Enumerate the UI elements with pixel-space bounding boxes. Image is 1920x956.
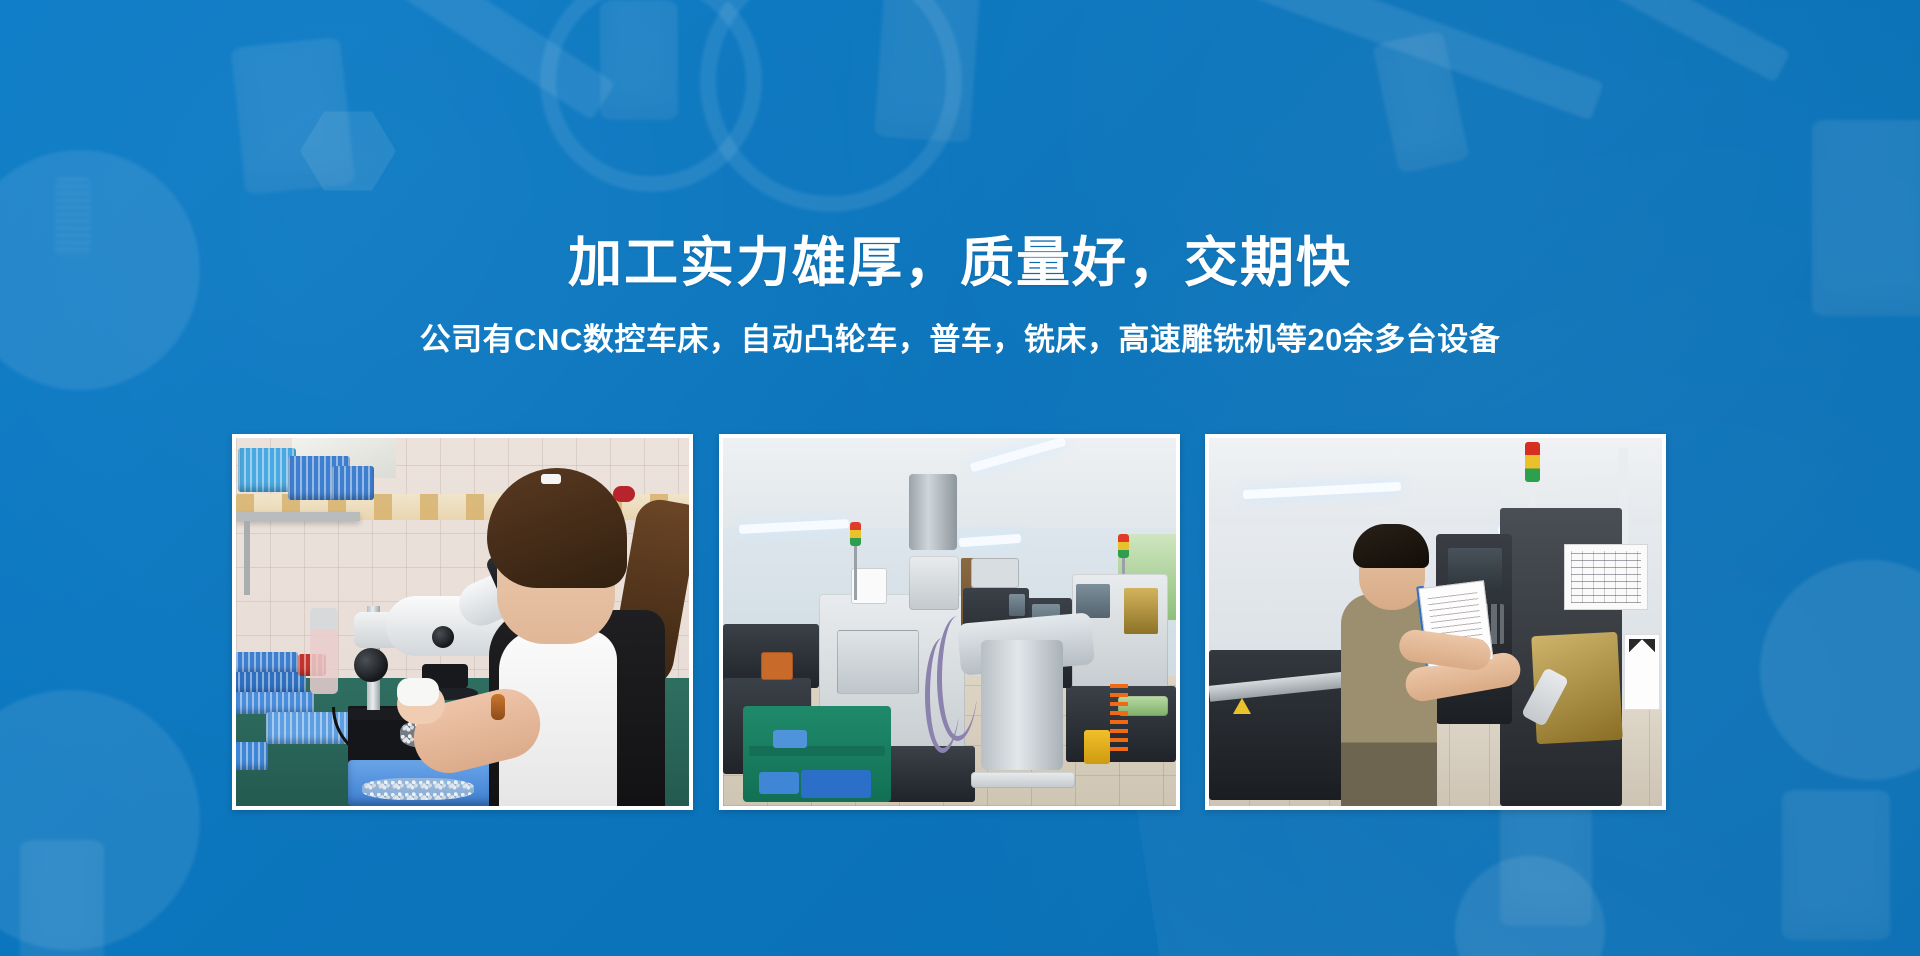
photo-caption: 质检员使用体视显微镜检测小五金零件 bbox=[236, 806, 237, 807]
photo-quality-inspection: 质检员使用体视显微镜检测小五金零件 bbox=[232, 434, 693, 810]
photo-caption: 操作员对照图纸调试数控车床控制面板 bbox=[1209, 806, 1210, 807]
storage-basket bbox=[236, 742, 268, 770]
water-bottle bbox=[310, 608, 338, 694]
ghost-ring-part bbox=[700, 0, 962, 212]
ghost-disc-part bbox=[1760, 560, 1920, 780]
ghost-disc-part bbox=[0, 690, 200, 950]
banner-copy: 加工实力雄厚，质量好，交期快 公司有CNC数控车床，自动凸轮车，普车，铣床，高速… bbox=[0, 232, 1920, 360]
ghost-cylinder-part bbox=[874, 0, 982, 143]
photo-quality-inspection-image bbox=[236, 438, 689, 806]
ghost-cylinder-part bbox=[600, 0, 678, 120]
wall-shelf bbox=[236, 512, 360, 521]
operator-glove bbox=[397, 678, 439, 706]
ghost-rod-part bbox=[1510, 0, 1791, 82]
storage-basket bbox=[236, 652, 298, 674]
cnc-control-screen bbox=[1124, 588, 1158, 634]
ghost-rod-part bbox=[315, 0, 616, 120]
conveyor-foot bbox=[971, 772, 1075, 788]
photo-gallery: 质检员使用体视显微镜检测小五金零件 bbox=[232, 434, 1666, 810]
ghost-cylinder-part bbox=[1782, 790, 1890, 940]
process-chart-board bbox=[1564, 544, 1648, 610]
ghost-cylinder-part bbox=[1372, 30, 1470, 174]
metal-parts-pile bbox=[362, 778, 474, 800]
ghost-cylinder-part bbox=[1500, 790, 1592, 926]
machine-access-panel bbox=[837, 630, 919, 694]
microscope-zoom-knob bbox=[432, 626, 454, 648]
page-title: 加工实力雄厚，质量好，交期快 bbox=[0, 232, 1920, 294]
coiled-air-hose bbox=[1110, 684, 1128, 756]
operator-hair bbox=[1353, 524, 1429, 568]
photo-cnc-workshop-image bbox=[723, 438, 1176, 806]
parts-bin bbox=[759, 772, 799, 794]
hair-clip bbox=[541, 474, 561, 484]
photo-cnc-workshop: CNC数控车床车间设备全景 bbox=[719, 434, 1180, 810]
ghost-ring-part bbox=[540, 0, 762, 192]
storage-basket bbox=[236, 672, 306, 694]
machine-chip-duct bbox=[909, 474, 957, 550]
storage-basket bbox=[332, 466, 374, 500]
photo-machine-operator-image bbox=[1209, 438, 1662, 806]
wall-cabinet bbox=[971, 558, 1019, 588]
photo-caption: CNC数控车床车间设备全景 bbox=[723, 806, 724, 807]
photo-machine-operator: 操作员对照图纸调试数控车床控制面板 bbox=[1205, 434, 1666, 810]
ghost-rod-part bbox=[1196, 0, 1604, 121]
safety-warning-label bbox=[1624, 634, 1660, 710]
parts-bin bbox=[801, 770, 871, 798]
coolant-hose bbox=[925, 638, 960, 753]
tool-cart-shelf bbox=[749, 746, 885, 756]
ghost-cylinder-part bbox=[231, 37, 356, 196]
signal-tower-light bbox=[1118, 534, 1129, 558]
ghost-disc-part bbox=[1455, 856, 1605, 956]
shelf-bracket bbox=[244, 521, 250, 595]
storage-basket bbox=[236, 692, 314, 714]
page-subtitle: 公司有CNC数控车床，自动凸轮车，普车，铣床，高速雕铣机等20余多台设备 bbox=[0, 320, 1920, 360]
ghost-hex-part bbox=[300, 108, 396, 194]
parts-bin bbox=[773, 730, 807, 748]
signal-tower-light bbox=[1525, 442, 1540, 482]
operator-bracelet bbox=[491, 694, 505, 720]
yellow-bucket bbox=[1084, 730, 1110, 764]
hair-tie bbox=[613, 486, 635, 502]
capability-banner: 加工实力雄厚，质量好，交期快 公司有CNC数控车床，自动凸轮车，普车，铣床，高速… bbox=[0, 0, 1920, 956]
cnc-control-screen bbox=[1009, 594, 1025, 616]
signal-tower-light bbox=[850, 522, 861, 546]
machine-upper-housing bbox=[909, 556, 959, 610]
chip-conveyor-column bbox=[981, 640, 1063, 770]
microscope-coarse-knob bbox=[354, 648, 388, 682]
ghost-cylinder-part bbox=[20, 840, 104, 956]
machine-control-box bbox=[761, 652, 793, 680]
